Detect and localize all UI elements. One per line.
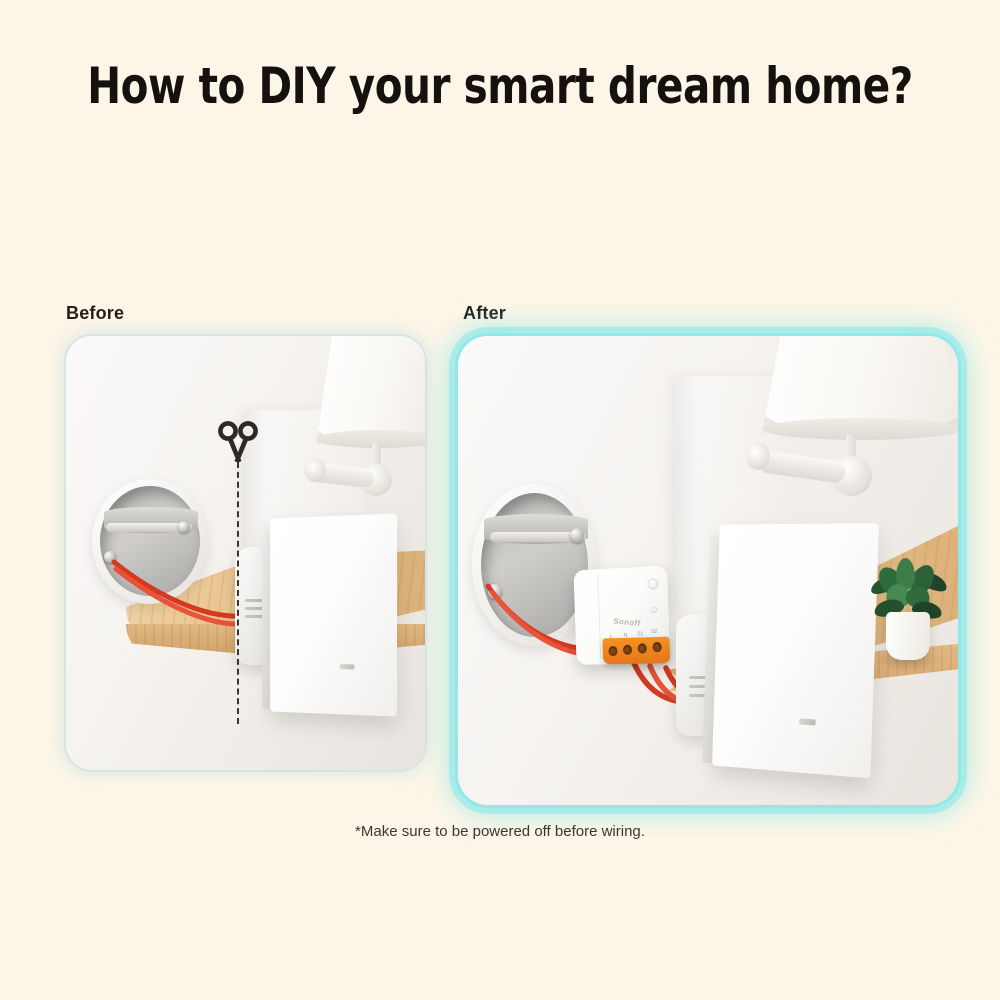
wall-lamp: [720, 336, 958, 534]
switch-plate-face: [270, 513, 397, 716]
footnote-text: *Make sure to be powered off before wiri…: [0, 823, 1000, 840]
junction-box-screw-bottom: [104, 551, 116, 563]
plant-pot: [886, 612, 930, 660]
potted-succulent: [868, 558, 948, 668]
scissors-icon: [215, 420, 261, 466]
before-scene: [66, 336, 425, 770]
wall-switch-plate[interactable]: [712, 523, 879, 778]
sonoff-terminal-hole-4: [652, 642, 661, 652]
lamp-shade: [316, 336, 425, 444]
wall-switch-plate[interactable]: [270, 513, 397, 716]
lamp-shade-lip: [316, 430, 425, 448]
sonoff-terminal-hole-1: [608, 646, 617, 656]
sonoff-module[interactable]: Sonoff L N S1 S2: [573, 566, 670, 665]
lamp-shade-lip: [762, 418, 958, 440]
wall-lamp: [298, 336, 425, 536]
dashed-cut-line: [237, 462, 239, 724]
switch-indicator-led: [799, 718, 816, 725]
page-title: How to DIY your smart dream home?: [50, 57, 950, 115]
junction-box-cavity: [100, 486, 200, 596]
switch-indicator-led: [340, 664, 355, 669]
poster-root: How to DIY your smart dream home? Before…: [0, 0, 1000, 1000]
junction-box-screw-top: [178, 521, 190, 533]
sonoff-terminal-hole-3: [638, 643, 647, 653]
before-label: Before: [66, 303, 124, 324]
junction-box: [92, 479, 207, 604]
lamp-arm: [757, 450, 847, 484]
junction-box-screw-top: [570, 528, 584, 543]
sonoff-terminal-block: [602, 637, 670, 665]
lamp-wall-mount: [304, 458, 326, 482]
after-label: After: [463, 303, 506, 324]
sonoff-terminal-hole-2: [623, 645, 632, 655]
after-image-panel: Sonoff L N S1 S2: [458, 336, 958, 805]
lamp-wall-mount: [746, 442, 770, 470]
switch-plate-face: [712, 523, 879, 778]
sonoff-pin-label-4: S2: [651, 629, 657, 635]
before-image-panel: [66, 336, 425, 770]
junction-box-screw-bottom: [488, 584, 502, 599]
after-scene: Sonoff L N S1 S2: [458, 336, 958, 805]
